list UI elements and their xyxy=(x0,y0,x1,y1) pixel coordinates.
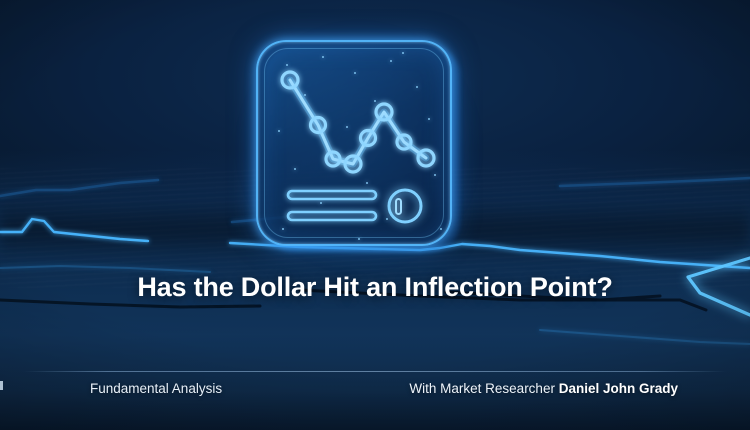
background-vignette xyxy=(0,0,750,430)
byline-author-name: Daniel John Grady xyxy=(559,381,678,396)
footer-divider xyxy=(24,371,726,372)
category-label: Fundamental Analysis xyxy=(90,379,222,399)
byline: With Market Researcher Daniel John Grady xyxy=(409,379,678,399)
page-title: Has the Dollar Hit an Inflection Point? xyxy=(0,272,750,303)
byline-prefix: With Market Researcher xyxy=(409,381,555,396)
footer: Fundamental Analysis With Market Researc… xyxy=(0,379,750,413)
article-banner: Has the Dollar Hit an Inflection Point? … xyxy=(0,0,750,430)
